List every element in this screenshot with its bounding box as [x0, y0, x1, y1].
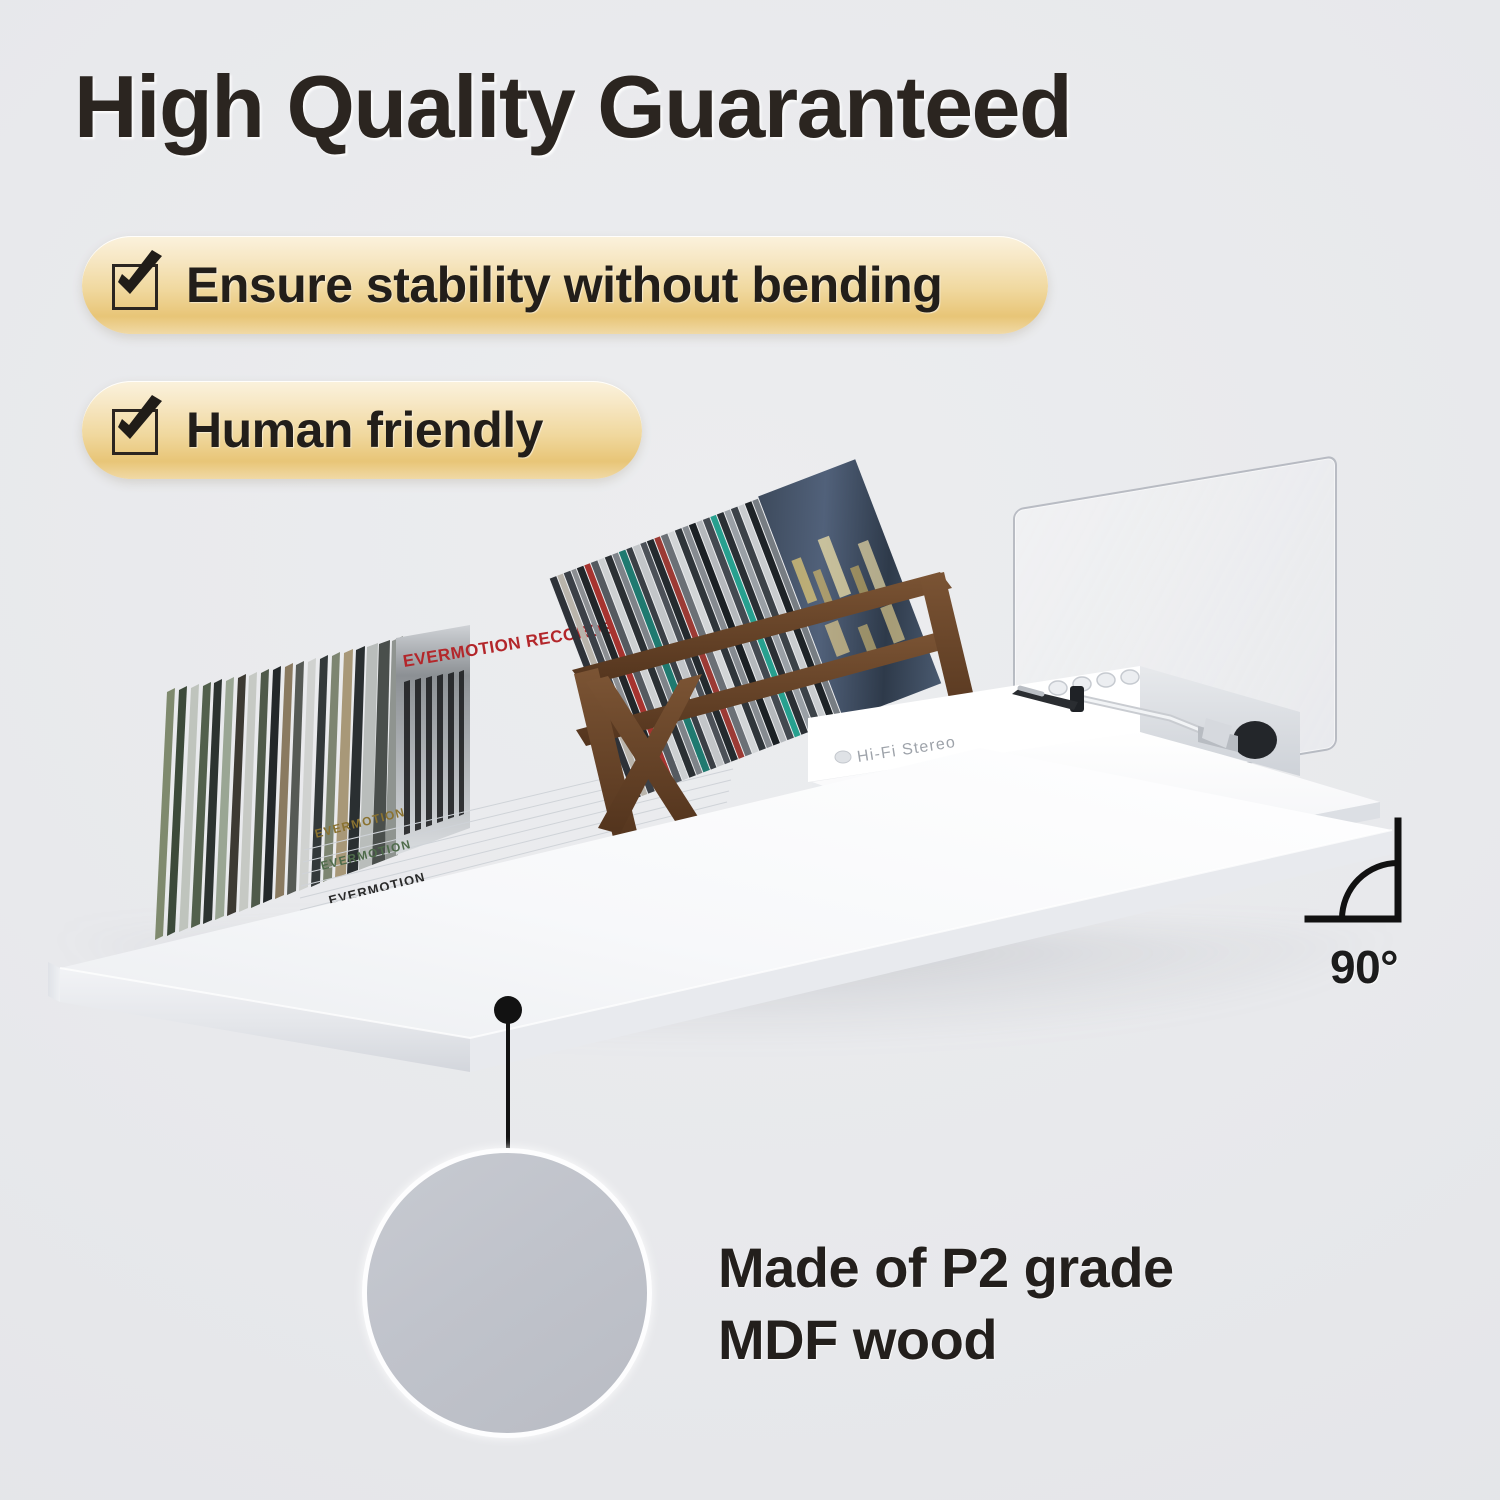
callout-anchor-dot — [494, 996, 522, 1024]
callout-leader-line — [506, 1022, 510, 1150]
page-title: High Quality Guaranteed — [74, 63, 1071, 151]
material-swatch — [362, 1148, 652, 1438]
feature-pill-stability: Ensure stability without bending — [82, 236, 1048, 334]
feature-pill-label: Ensure stability without bending — [186, 256, 942, 314]
shelf-geometry: EVERMOTION RECORDS — [0, 430, 1500, 1080]
material-callout-line1: Made of P2 grade — [718, 1232, 1174, 1304]
right-angle-icon — [1302, 815, 1418, 941]
material-callout-line2: MDF wood — [718, 1304, 1174, 1376]
product-infographic: High Quality Guaranteed Ensure stability… — [0, 0, 1500, 1500]
angle-value-label: 90° — [1330, 940, 1398, 994]
checkbox-checked-icon — [110, 258, 164, 312]
material-callout-text: Made of P2 grade MDF wood — [718, 1232, 1174, 1375]
product-photo: EVERMOTION RECORDS — [0, 430, 1500, 1080]
